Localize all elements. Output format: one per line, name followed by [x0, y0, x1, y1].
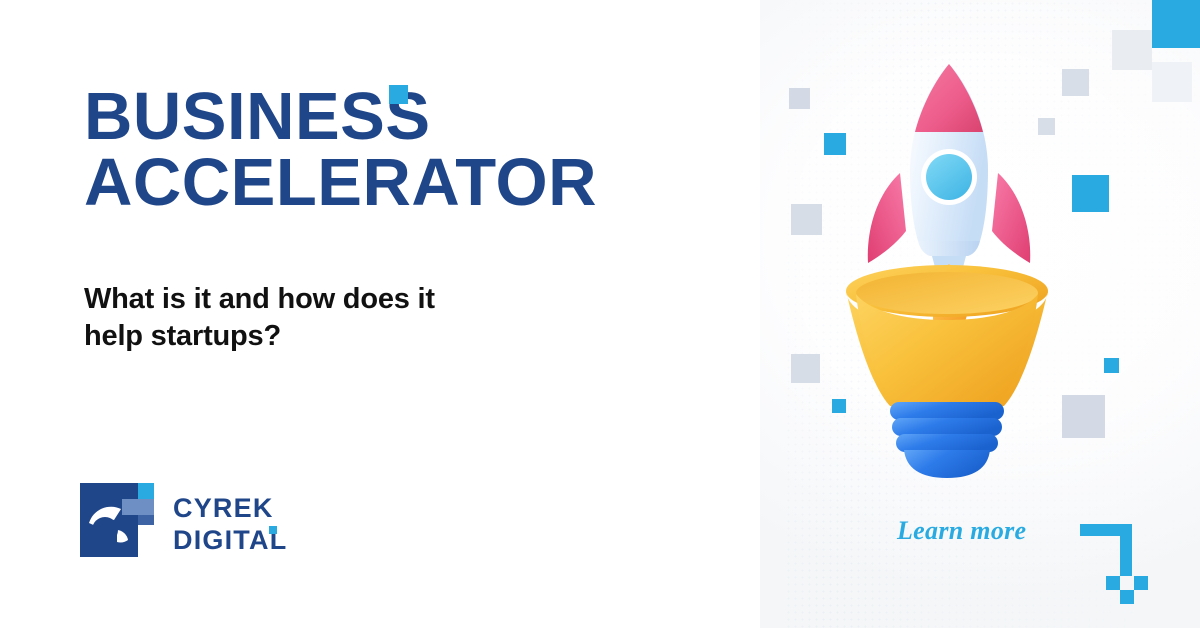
square-blue-right-c-icon: [1104, 358, 1119, 373]
brand-logo-text: CYREK DIGITAL: [173, 493, 287, 556]
square-top-right-gray2-icon: [1152, 62, 1192, 102]
square-gray-left-a-icon: [789, 88, 810, 109]
cyrek-logo-mark-icon: [80, 483, 154, 557]
headline-block: BUSINESS ACCELERATOR: [84, 84, 744, 217]
corner-bracket-icon: [1080, 524, 1146, 588]
rocket-lightbulb-illustration: [828, 58, 1078, 478]
brand-logo-accent-square-icon: [269, 526, 277, 534]
page-title: BUSINESS ACCELERATOR: [84, 84, 744, 217]
title-accent-square-icon: [389, 85, 408, 104]
square-top-right-blue-icon: [1152, 0, 1200, 48]
square-gray-mid-icon: [791, 354, 820, 383]
brand-logo[interactable]: CYREK DIGITAL: [80, 483, 310, 575]
page-subtitle: What is it and how does it help startups…: [84, 281, 604, 356]
square-gray-left-b-icon: [791, 204, 822, 235]
square-top-right-gray1-icon: [1112, 30, 1152, 70]
banner-canvas: BUSINESS ACCELERATOR What is it and how …: [0, 0, 1200, 628]
learn-more-link[interactable]: Learn more: [897, 516, 1026, 546]
